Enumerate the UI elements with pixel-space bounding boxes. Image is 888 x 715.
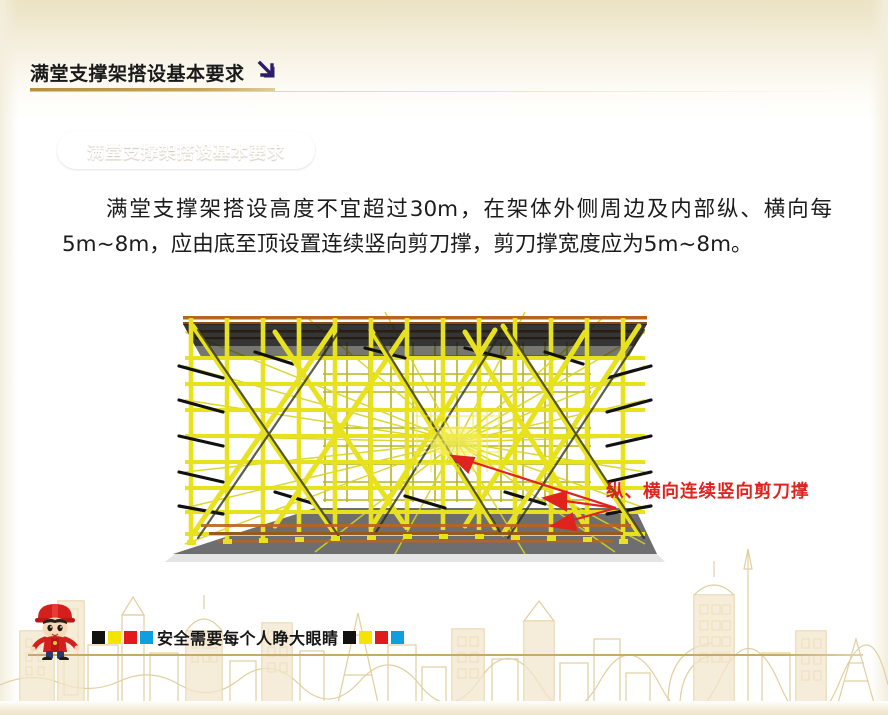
footer-divider: [28, 654, 863, 656]
bottom-edge-band: [0, 701, 888, 715]
swatch-red-left: [124, 631, 137, 644]
section-badge-label: 满堂支撑架搭设基本要求: [87, 138, 285, 163]
scissor-brace-annotation: 纵、横向连续竖向剪刀撑: [606, 478, 810, 503]
body-paragraph: 满堂支撑架搭设高度不宜超过30m，在架体外侧周边及内部纵、横向每5m~8m，应由…: [62, 192, 832, 262]
page-header: 满堂支撑架搭设基本要求: [30, 56, 281, 89]
swatch-black-left: [92, 631, 105, 644]
callout-arrows: [430, 448, 620, 538]
footer-slogan-strip: 安全需要每个人睁大眼睛: [92, 625, 404, 649]
safety-worker-mascot-icon: [22, 598, 88, 660]
swatch-yellow-left: [108, 631, 121, 644]
swatch-yellow-right: [359, 631, 372, 644]
section-badge: 满堂支撑架搭设基本要求: [57, 131, 315, 169]
footer-slogan: 安全需要每个人睁大眼睛: [157, 625, 339, 649]
scaffold-illustration: [165, 296, 665, 586]
header-divider: [30, 88, 275, 91]
swatch-blue-left: [140, 631, 153, 644]
page-title: 满堂支撑架搭设基本要求: [30, 59, 245, 86]
slide-canvas: 满堂支撑架搭设基本要求 满堂支撑架搭设基本要求 满堂支撑架搭设高度不宜超过30m…: [0, 0, 888, 715]
header-divider-thin: [30, 91, 868, 92]
swatch-red-right: [375, 631, 388, 644]
arrow-down-right-icon: [255, 58, 281, 89]
swatch-black-right: [343, 631, 356, 644]
swatch-blue-right: [391, 631, 404, 644]
